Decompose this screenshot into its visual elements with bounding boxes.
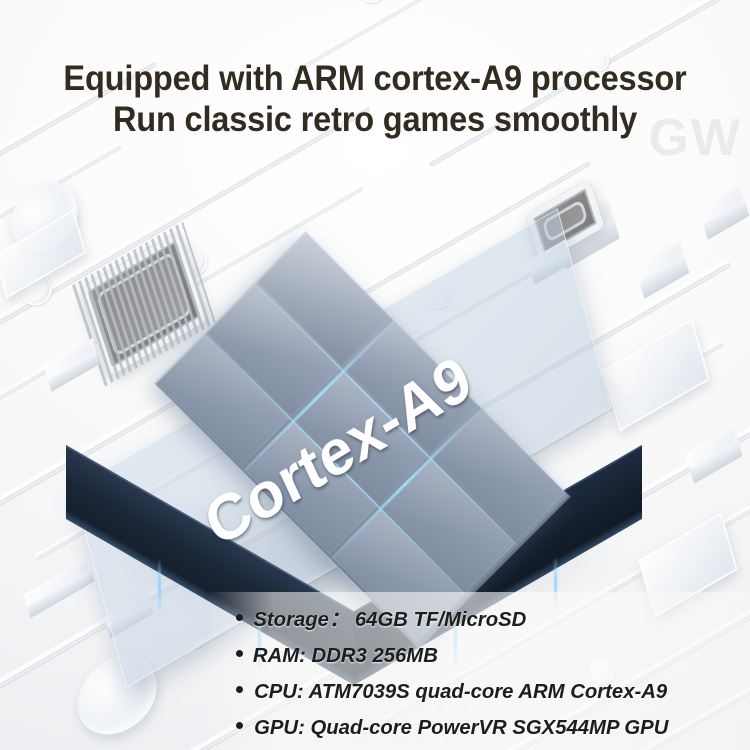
spec-text: GPU: Quad-core PowerVR SGX544MP GPU <box>254 710 668 746</box>
spec-item-gpu: GPU: Quad-core PowerVR SGX544MP GPU <box>236 710 746 746</box>
product-banner: GW GW Equipped with ARM cortex-A9 proces… <box>0 0 750 750</box>
spec-text: Storage： 64GB TF/MicroSD <box>253 602 526 638</box>
spec-text: CPU: ATM7039S quad-core ARM Cortex-A9 <box>254 674 667 710</box>
cortex-a9-chip-illustration: Cortex-A9 <box>62 228 662 628</box>
headline-line-1: Equipped with ARM cortex-A9 processor <box>26 58 724 99</box>
spec-item-storage: Storage： 64GB TF/MicroSD <box>236 602 746 638</box>
headline: Equipped with ARM cortex-A9 processor Ru… <box>0 58 750 140</box>
bullet-icon <box>236 614 243 621</box>
spec-item-ram: RAM: DDR3 256MB <box>236 638 746 674</box>
bullet-icon <box>236 650 243 657</box>
chip-edge-glow <box>158 559 161 613</box>
spec-item-cpu: CPU: ATM7039S quad-core ARM Cortex-A9 <box>236 674 746 710</box>
spec-text: RAM: DDR3 256MB <box>253 638 438 674</box>
headline-line-2: Run classic retro games smoothly <box>26 99 724 140</box>
bullet-icon <box>236 722 243 729</box>
spec-list: Storage： 64GB TF/MicroSD RAM: DDR3 256MB… <box>236 602 746 746</box>
bullet-icon <box>236 686 243 693</box>
